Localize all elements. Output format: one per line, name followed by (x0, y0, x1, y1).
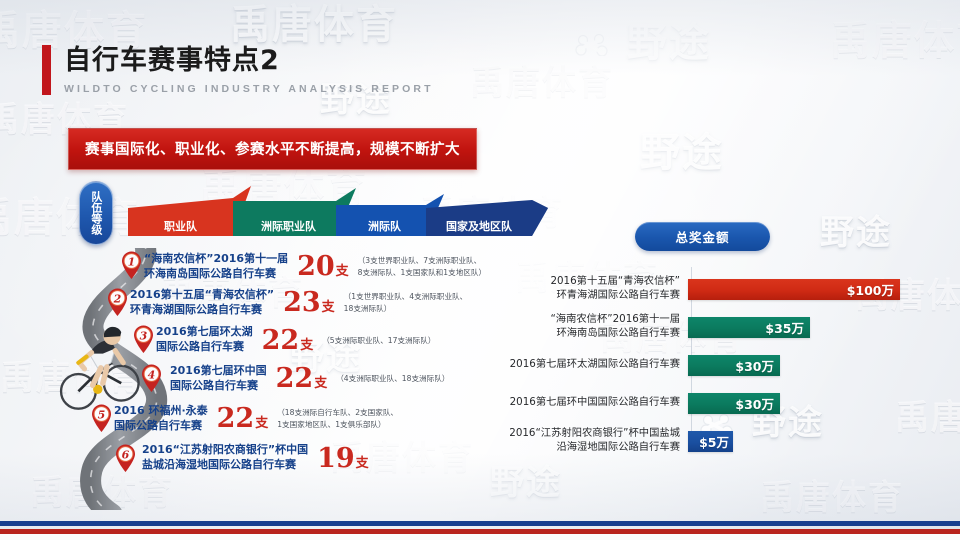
page-subtitle: WILDTO CYCLING INDUSTRY ANALYSIS REPORT (64, 83, 434, 95)
watermark-brand-b: 禹唐体育 (830, 8, 960, 66)
race-team-breakdown: （1支世界职业队、4支洲际职业队、 18支洲际队） (344, 291, 468, 314)
list-item[interactable]: 5 2016 环福州·永泰 国际公路自行车赛 22支 （18支洲际自行车队、2支… (114, 404, 538, 434)
map-pin-icon-4: 4 (140, 363, 163, 393)
race-name: 2016 环福州·永泰 国际公路自行车赛 (114, 404, 208, 434)
prize-chart-title-label: 总奖金额 (675, 227, 729, 246)
list-item[interactable]: 4 2016第七届环中国 国际公路自行车赛 22支 （4支洲际职业队、18支洲际… (170, 364, 538, 394)
race-team-count: 22支 (276, 365, 328, 392)
footer-stripe-base (0, 534, 960, 540)
race-team-count: 22支 (217, 405, 269, 432)
map-pin-icon-5: 5 (90, 403, 113, 433)
chart-bar-row[interactable]: 2016第七届环太湖国际公路自行车赛 $30万 (490, 347, 955, 383)
map-pin-icon-1: 1 (120, 250, 143, 280)
race-team-count: 19支 (317, 445, 369, 472)
race-team-count: 20支 (297, 253, 349, 280)
slide-canvas: 禹唐体育 禹唐体育 野途 禹唐体育 禹唐体育 野途 禹唐体育 禹唐体育 野途 禹… (0, 0, 960, 540)
title-accent-bar (42, 45, 51, 95)
race-name: 2016第七届环太湖 国际公路自行车赛 (156, 325, 253, 355)
list-item[interactable]: 1 “海南农信杯”2016第十一届 环海南岛国际公路自行车赛 20支 （3支世界… (144, 252, 538, 282)
chart-bar-value: $100万 (847, 280, 894, 299)
watermark-brand-b: 禹唐体育 (0, 185, 140, 243)
chart-bar: $30万 (688, 393, 780, 414)
watermark-brand-a: 野途 (575, 10, 711, 68)
pin-number-2: 2 (113, 292, 122, 305)
chart-category-label: 2016“江苏射阳农商银行”杯中国盐城 沿海湿地国际公路自行车赛 (490, 427, 688, 455)
chevron-label-1: 职业队 (164, 219, 198, 233)
chart-bar-value: $30万 (735, 356, 774, 375)
chart-bar: $35万 (688, 317, 810, 338)
chart-bar: $100万 (688, 279, 900, 300)
pin-number-4: 4 (148, 368, 156, 381)
race-name: “海南农信杯”2016第十一届 环海南岛国际公路自行车赛 (144, 252, 288, 282)
headline-banner: 赛事国际化、职业化、参赛水平不断提高，规模不断扩大 (68, 128, 477, 170)
bike-chain-icon (575, 34, 621, 56)
pin-number-6: 6 (122, 449, 130, 462)
pin-number-5: 5 (98, 408, 106, 421)
prize-bar-chart: 2016第十五届“青海农信杯” 环青海湖国际公路自行车赛 $100万 “海南农信… (490, 271, 955, 459)
chevron-label-3: 洲际队 (368, 219, 402, 233)
chart-bar-value: $30万 (735, 394, 774, 413)
chart-category-label: 2016第十五届“青海农信杯” 环青海湖国际公路自行车赛 (490, 275, 688, 303)
chart-bar-row[interactable]: 2016第七届环中国国际公路自行车赛 $30万 (490, 385, 955, 421)
race-name: 2016第七届环中国 国际公路自行车赛 (170, 364, 267, 394)
chart-bar-row[interactable]: “海南农信杯”2016第十一届 环海南岛国际公路自行车赛 $35万 (490, 309, 955, 345)
chart-bar: $30万 (688, 355, 780, 376)
chart-category-label: “海南农信杯”2016第十一届 环海南岛国际公路自行车赛 (490, 313, 688, 341)
pin-number-1: 1 (128, 255, 136, 268)
list-item[interactable]: 3 2016第七届环太湖 国际公路自行车赛 22支 （5支洲际职业队、17支洲际… (156, 325, 538, 355)
footer-stripe-blue (0, 521, 960, 526)
list-item[interactable]: 6 2016“江苏射阳农商银行”杯中国 盐城沿海湿地国际公路自行车赛 19支 (142, 443, 538, 473)
race-team-breakdown: （4支洲际职业队、18支洲际队） (336, 373, 449, 384)
chart-bar-row[interactable]: 2016“江苏射阳农商银行”杯中国盐城 沿海湿地国际公路自行车赛 $5万 (490, 423, 955, 459)
map-pin-icon-2: 2 (106, 287, 129, 317)
team-level-chevron-band: 职业队 洲际职业队 洲际队 国家及地区队 (128, 186, 548, 240)
team-level-badge: 队伍等级 (79, 181, 113, 245)
prize-chart-title: 总奖金额 (635, 222, 770, 251)
race-team-count: 22支 (262, 327, 314, 354)
race-team-breakdown: （3支世界职业队、7支洲际职业队、 8支洲际队、1支国家队和1支地区队） (358, 255, 486, 278)
race-team-breakdown: （5支洲际职业队、17支洲际队） (322, 335, 435, 346)
chevron-label-2: 洲际职业队 (261, 219, 317, 233)
page-title: 自行车赛事特点2 (64, 46, 434, 76)
pin-number-3: 3 (140, 330, 148, 343)
race-list: 1 “海南农信杯”2016第十一届 环海南岛国际公路自行车赛 20支 （3支世界… (118, 252, 538, 477)
map-pin-icon-3: 3 (132, 324, 155, 354)
watermark-brand-b: 禹唐体育 (470, 55, 614, 104)
race-team-breakdown: （18支洲际自行车队、2支国家队、 1支国家地区队、1支俱乐部队） (277, 407, 398, 430)
watermark-brand-a: 野途 (640, 120, 724, 178)
race-name: 2016“江苏射阳农商银行”杯中国 盐城沿海湿地国际公路自行车赛 (142, 443, 308, 473)
chart-category-label: 2016第七届环太湖国际公路自行车赛 (490, 358, 688, 372)
chart-bar-row[interactable]: 2016第十五届“青海农信杯” 环青海湖国际公路自行车赛 $100万 (490, 271, 955, 307)
page-header: 自行车赛事特点2 WILDTO CYCLING INDUSTRY ANALYSI… (42, 45, 434, 95)
map-pin-icon-6: 6 (114, 443, 137, 473)
chart-bar-value: $35万 (765, 318, 804, 337)
list-item[interactable]: 2 2016第十五届“青海农信杯” 环青海湖国际公路自行车赛 23支 （1支世界… (130, 288, 538, 318)
footer-stripes (0, 512, 960, 540)
team-level-badge-label: 队伍等级 (90, 191, 102, 235)
prize-chart-panel: 总奖金额 2016第十五届“青海农信杯” 环青海湖国际公路自行车赛 $100万 … (490, 222, 955, 461)
race-name: 2016第十五届“青海农信杯” 环青海湖国际公路自行车赛 (130, 288, 274, 318)
race-team-count: 23支 (283, 289, 335, 316)
chart-bar: $5万 (688, 431, 733, 452)
chart-category-label: 2016第七届环中国国际公路自行车赛 (490, 396, 688, 410)
watermark-brand-b: 禹唐体育 (230, 0, 398, 50)
chart-bar-value: $5万 (699, 432, 729, 451)
